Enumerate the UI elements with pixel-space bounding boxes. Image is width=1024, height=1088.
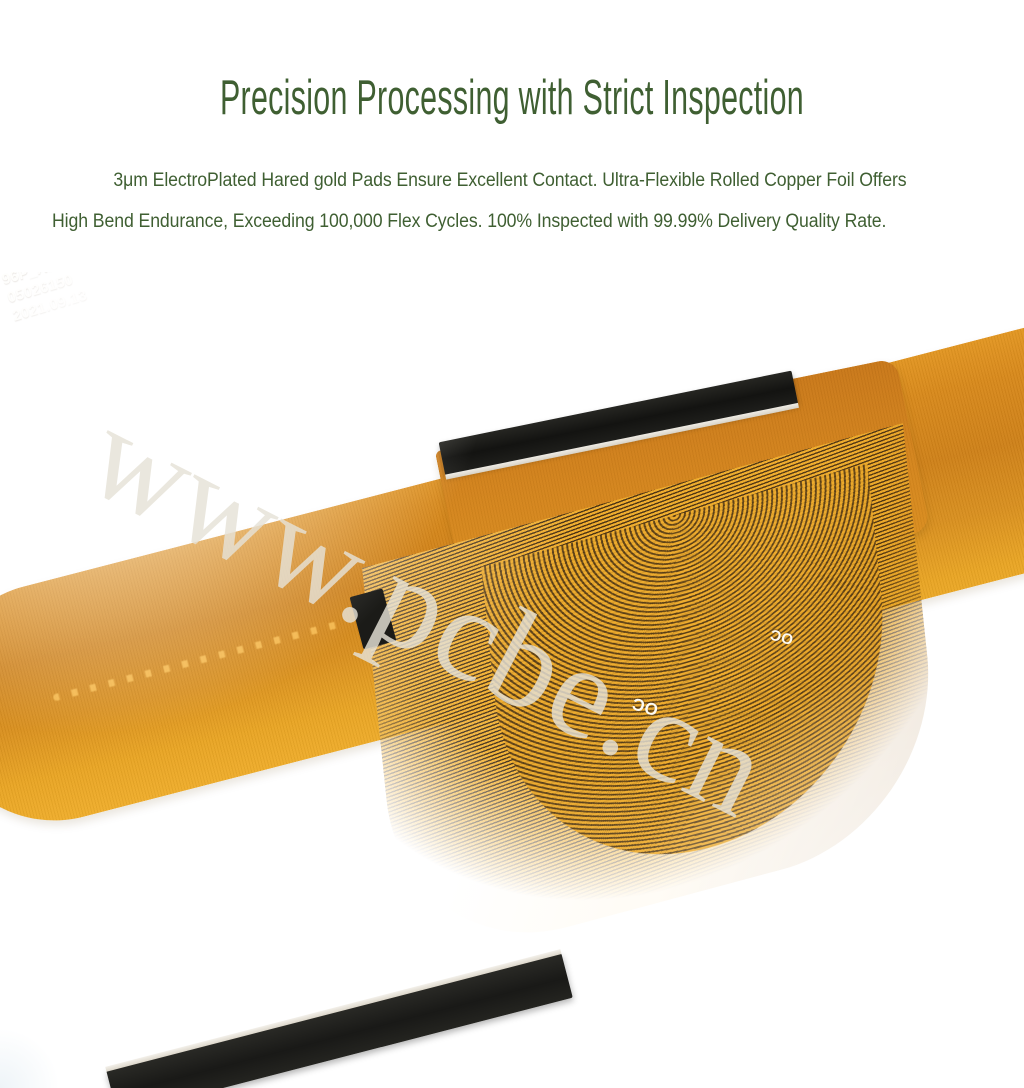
silkscreen-date-code: 2021.09.13 bbox=[11, 272, 998, 327]
intro-paragraph: 3μm ElectroPlated Hared gold Pads Ensure… bbox=[52, 160, 908, 242]
page-title: Precision Processing with Strict Inspect… bbox=[195, 69, 830, 127]
intro-block: 3μm ElectroPlated Hared gold Pads Ensure… bbox=[0, 160, 1024, 242]
product-photo: OC OC 96P_A1.0 05026150 2021.09.13 bbox=[0, 272, 1024, 1088]
corner-tint bbox=[0, 1028, 60, 1088]
stiffener-bottom-icon bbox=[106, 953, 573, 1088]
page-header: Precision Processing with Strict Inspect… bbox=[0, 0, 1024, 261]
silkscreen-label-stack: 96P_A1.0 05026150 2021.09.13 bbox=[0, 272, 998, 327]
